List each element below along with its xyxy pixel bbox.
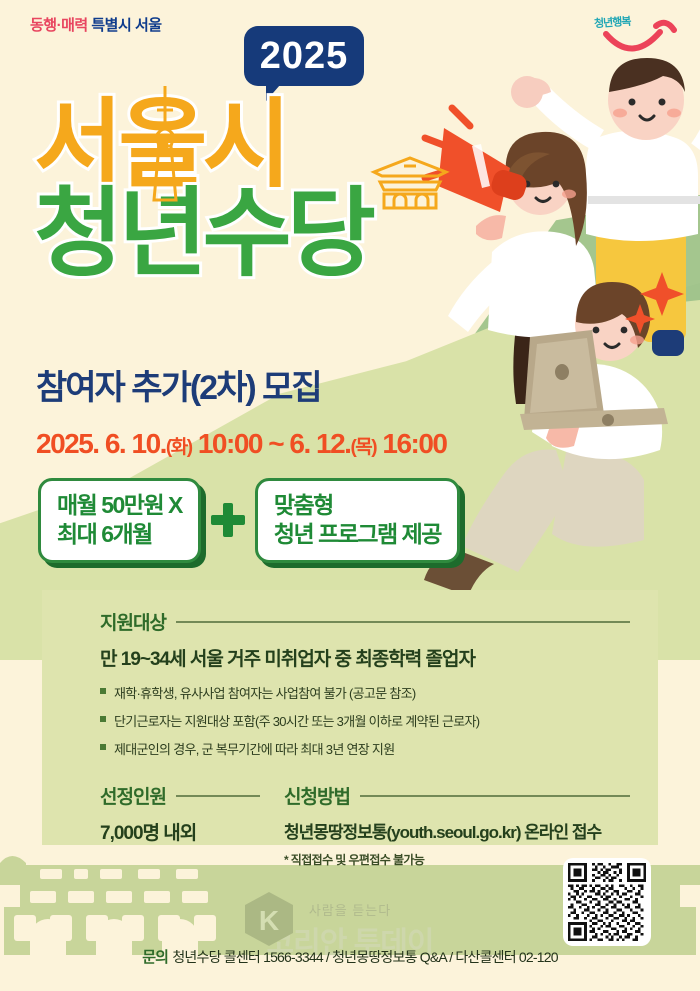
section-count-head: 선정인원 — [100, 782, 260, 809]
benefit-box-allowance: 매월 50만원 X 최대 6개월 — [38, 478, 201, 563]
footer-label: 문의 — [142, 949, 168, 966]
seoul-logo-text-b: 특별시 서울 — [91, 17, 161, 34]
benefit-box-allowance-line1: 매월 50만원 X — [57, 491, 182, 520]
main-title: 서울시 청년수당 — [34, 96, 504, 282]
list-item: 단기근로자는 지원대상 포함(주 30시간 또는 3개월 이하로 계약된 근로자… — [100, 711, 630, 730]
section-apply: 신청방법 청년몽땅정보통(youth.seoul.go.kr) 온라인 접수 *… — [284, 782, 630, 868]
qr-code-icon — [568, 863, 646, 941]
section-apply-head: 신청방법 — [284, 782, 630, 809]
schedule-line: 2025. 6. 10.(화) 10:00 ~ 6. 12.(목) 16:00 — [36, 428, 447, 460]
gwanghwamun-gate-icon — [370, 154, 450, 212]
year-badge-label: 2025 — [260, 35, 349, 78]
section-target-main: 만 19~34세 서울 거주 미취업자 중 최종학력 졸업자 — [100, 644, 630, 671]
schedule-end-day: (목) — [350, 437, 376, 458]
section-target-bullets: 재학·휴학생, 유사사업 참여자는 사업참여 불가 (공고문 참조) 단기근로자… — [100, 683, 630, 758]
schedule-start-day: (화) — [166, 437, 192, 458]
section-target-rule — [176, 621, 630, 623]
schedule-start-time: 10:00 — [198, 428, 262, 459]
benefit-row: 매월 50만원 X 최대 6개월 맞춤형 청년 프로그램 제공 — [38, 478, 460, 563]
youth-logo-text: 청년행복 — [593, 13, 631, 32]
list-item: 재학·휴학생, 유사사업 참여자는 사업참여 불가 (공고문 참조) — [100, 683, 630, 702]
section-count-main: 7,000명 내외 — [100, 818, 260, 845]
section-apply-main[interactable]: 청년몽땅정보통(youth.seoul.go.kr) 온라인 접수 — [284, 818, 630, 843]
poster-root: 동행·매력 특별시 서울 청년행복 2025 서울시 청년수당 — [0, 0, 700, 991]
year-badge: 2025 — [244, 26, 364, 86]
section-count-rule — [176, 795, 260, 797]
section-target-heading: 지원대상 — [100, 608, 166, 635]
benefit-box-program-line2: 청년 프로그램 제공 — [274, 520, 441, 549]
benefit-box-allowance-line2: 최대 6개월 — [57, 520, 182, 549]
youth-happiness-logo: 청년행복 — [588, 8, 678, 58]
schedule-start-date: 6. 10. — [105, 428, 166, 459]
schedule-year: 2025. — [36, 428, 99, 459]
qr-code[interactable] — [563, 858, 651, 946]
benefit-box-program-line1: 맞춤형 — [274, 491, 441, 520]
footer: 문의 청년수당 콜센터 1566-3344 / 청년몽땅정보통 Q&A / 다산… — [0, 946, 700, 967]
schedule-tilde: ~ — [268, 428, 283, 459]
section-target-head: 지원대상 — [100, 608, 630, 635]
benefit-box-program: 맞춤형 청년 프로그램 제공 — [255, 478, 460, 563]
list-item: 제대군인의 경우, 군 복무기간에 따라 최대 3년 연장 지원 — [100, 739, 630, 758]
section-count-heading: 선정인원 — [100, 782, 166, 809]
section-apply-rule — [360, 795, 630, 797]
schedule-end-time: 16:00 — [382, 428, 446, 459]
footer-contacts: 청년수당 콜센터 1566-3344 / 청년몽땅정보통 Q&A / 다산콜센터… — [172, 949, 557, 965]
section-target: 지원대상 만 19~34세 서울 거주 미취업자 중 최종학력 졸업자 재학·휴… — [100, 608, 630, 767]
seoul-brand-logo: 동행·매력 특별시 서울 — [30, 14, 180, 44]
schedule-end-date: 6. 12. — [289, 428, 350, 459]
section-apply-heading: 신청방법 — [284, 782, 350, 809]
plus-icon — [211, 503, 245, 537]
section-count: 선정인원 7,000명 내외 — [100, 782, 260, 845]
subtitle: 참여자 추가(2차) 모집 — [36, 360, 321, 409]
seoul-logo-text-a: 동행·매력 — [30, 17, 88, 34]
